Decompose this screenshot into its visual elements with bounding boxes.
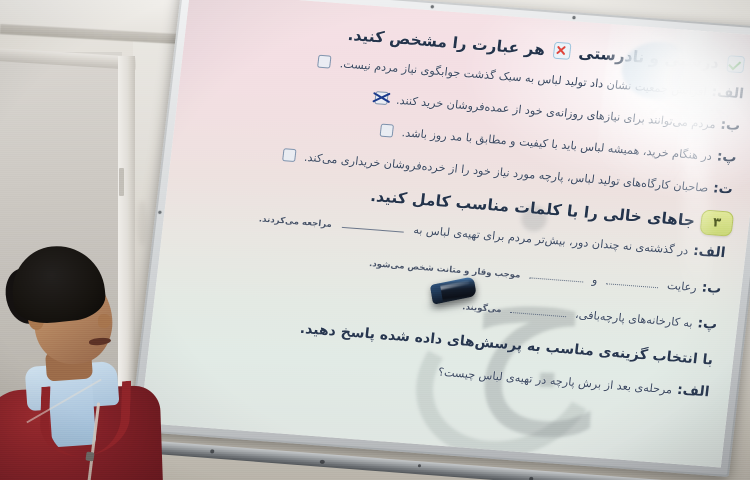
tray-speck: [210, 449, 214, 453]
tray-speck: [320, 460, 325, 464]
checkbox-icon[interactable]: [282, 148, 296, 162]
q3-item-c-before: به کارخانه‌های پارچه‌بافی،: [575, 308, 694, 330]
q3-item-c-after: می‌گویند.: [462, 302, 502, 315]
legend-instruction: هر عبارت را مشخص کنید.: [347, 26, 546, 59]
wall-scuff: [137, 200, 147, 246]
question-4-prompt: با انتخاب گزینه‌ی مناسب به پرسش‌های داده…: [299, 321, 714, 369]
student-hair: [8, 241, 107, 326]
q3-item-b: ب: رعایت و موجب وقار و متانت شخص می‌شود.: [368, 254, 722, 297]
blank-field[interactable]: [606, 273, 659, 288]
q4-item-a-marker: الف:: [676, 382, 710, 400]
q4-item-a-text: مرحله‌ی بعد از برش پارچه در تهیه‌ی لباس …: [437, 366, 672, 397]
checkbox-crossed-icon[interactable]: [374, 91, 388, 105]
checkbox-icon[interactable]: [379, 124, 393, 138]
whiteboard-surface: ج درستی و نادرستی هر عبارت را مشخص کنید.…: [140, 0, 750, 467]
lanyard-clip: [85, 451, 94, 461]
whiteboard: ج درستی و نادرستی هر عبارت را مشخص کنید.…: [128, 0, 750, 480]
projector-glare-streak: [682, 21, 710, 321]
blank-field[interactable]: [529, 267, 584, 283]
q3-item-b-after: موجب وقار و متانت شخص می‌شود.: [368, 259, 521, 281]
blank-field[interactable]: [341, 217, 404, 233]
checkbox-icon[interactable]: [317, 55, 331, 69]
blank-field[interactable]: [510, 302, 567, 318]
q3-item-a-after: مراجعه می‌کردند.: [258, 214, 332, 230]
cross-icon: [552, 42, 571, 60]
marker-cap: [430, 283, 443, 305]
door-latch-plate: [119, 168, 124, 196]
q4-item-a: الف: مرحله‌ی بعد از برش پارچه در تهیه‌ی …: [437, 364, 710, 401]
q3-item-a-before: در گذشته‌ی نه چندان دور، بیش‌تر مردم برا…: [413, 223, 689, 257]
classroom-photo: ج درستی و نادرستی هر عبارت را مشخص کنید.…: [0, 0, 750, 480]
tray-speck: [418, 464, 421, 467]
student-mouth: [89, 337, 112, 346]
q3-item-c: پ: به کارخانه‌های پارچه‌بافی، می‌گویند.: [462, 297, 718, 332]
student: [0, 246, 166, 480]
q3-item-b-middle: و: [591, 273, 598, 286]
